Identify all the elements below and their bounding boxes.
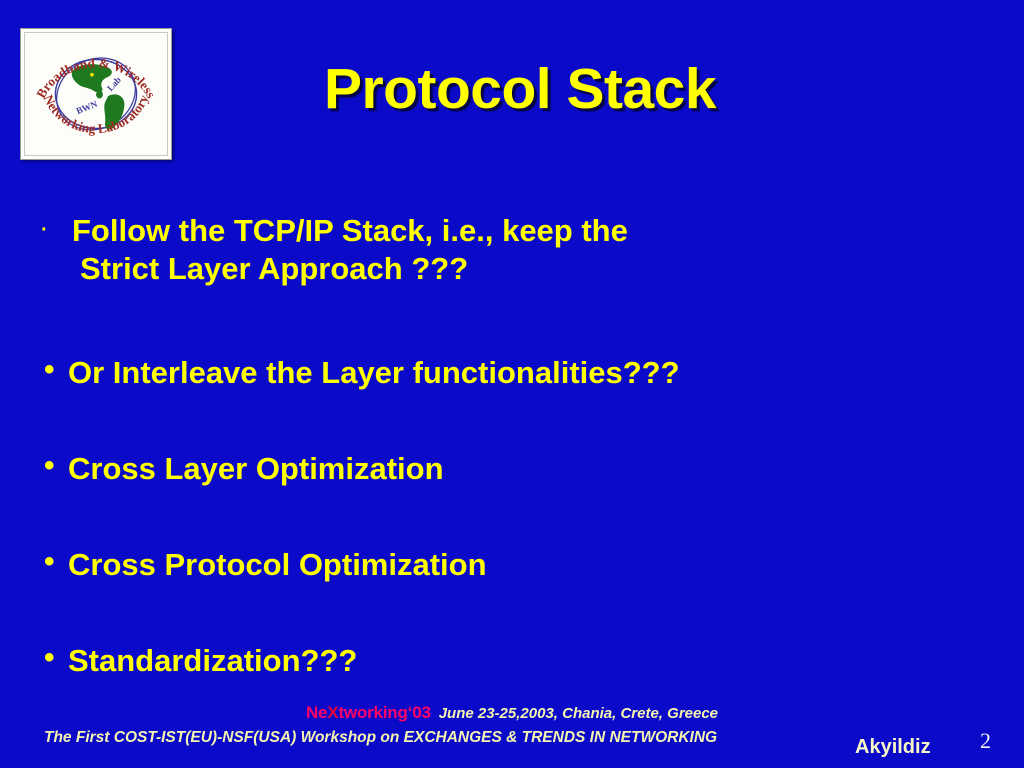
bullet-text-line-2: Strict Layer Approach ??? — [80, 250, 872, 288]
bullet-list: · Follow the TCP/IP Stack, i.e., keep th… — [0, 200, 1024, 726]
bullet-marker-icon: • — [44, 451, 55, 481]
bullet-text: Cross Layer Optimization — [68, 450, 988, 488]
svg-text:Networking Laboratory: Networking Laboratory — [41, 92, 152, 136]
footer-conference-line: NeXtworking‘03June 23-25,2003, Chania, C… — [0, 703, 1024, 723]
presentation-slide: Broadband & Wireless Networking Laborato… — [0, 0, 1024, 768]
bullet-text: Standardization??? — [68, 642, 988, 680]
bullet-text: Cross Protocol Optimization — [68, 546, 988, 584]
conference-name-x: X — [327, 703, 338, 722]
slide-title: Protocol Stack — [200, 56, 840, 122]
logo-artwork: Broadband & Wireless Networking Laborato… — [25, 33, 167, 155]
bullet-marker-icon: • — [44, 547, 55, 577]
conference-name: NeXtworking‘03 — [306, 703, 431, 722]
bullet-text: Follow the TCP/IP Stack, i.e., keep the … — [72, 212, 872, 289]
svg-text:BWN: BWN — [75, 99, 99, 117]
list-item: • Cross Protocol Optimization — [0, 542, 1024, 630]
bullet-text-line-1: Follow the TCP/IP Stack, i.e., keep the — [72, 213, 628, 248]
logo-inner-border: Broadband & Wireless Networking Laborato… — [24, 32, 168, 156]
presenter-name: Akyildiz — [855, 736, 931, 759]
bullet-text: Or Interleave the Layer functionalities?… — [68, 354, 988, 392]
bwn-lab-logo: Broadband & Wireless Networking Laborato… — [20, 28, 172, 160]
list-item: • Or Interleave the Layer functionalitie… — [0, 350, 1024, 438]
footer-workshop-line: The First COST-IST(EU)-NSF(USA) Workshop… — [44, 729, 717, 747]
bullet-marker-icon: • — [44, 355, 55, 385]
list-item: · Follow the TCP/IP Stack, i.e., keep th… — [0, 206, 1024, 302]
conference-date-location: June 23-25,2003, Chania, Crete, Greece — [439, 705, 718, 722]
conference-name-pre: Ne — [306, 703, 327, 722]
svg-text:Lab: Lab — [105, 75, 123, 93]
conference-name-post: tworking‘03 — [338, 703, 430, 722]
bullet-marker-icon: · — [41, 220, 48, 240]
page-number: 2 — [980, 728, 991, 754]
bullet-marker-icon: • — [44, 643, 55, 673]
list-item: • Cross Layer Optimization — [0, 446, 1024, 534]
